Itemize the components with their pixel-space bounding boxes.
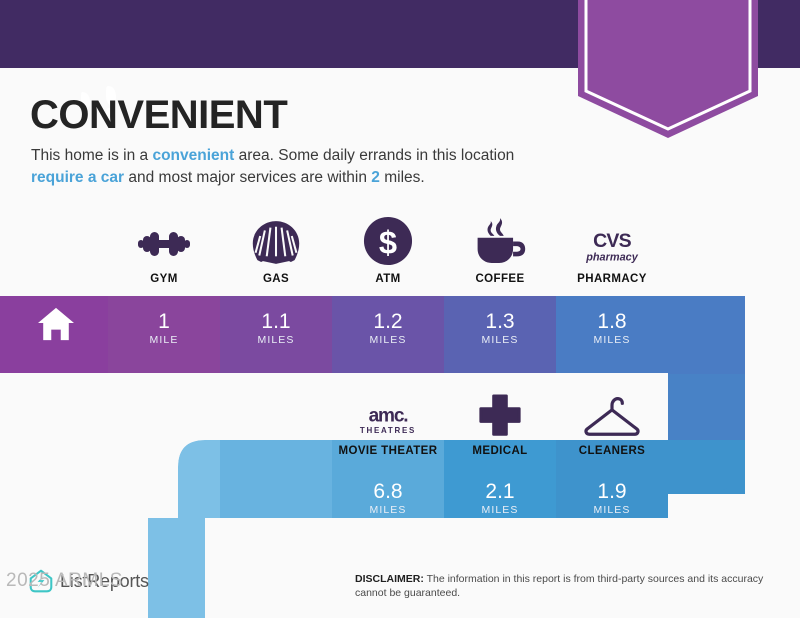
coffee-cup-icon (444, 212, 556, 266)
amenity-atm[interactable]: $ ATM (332, 212, 444, 285)
amenity-label: GAS (220, 273, 332, 285)
disclaimer: DISCLAIMER: The information in this repo… (355, 572, 785, 600)
amenity-label: MOVIE THEATER (332, 445, 444, 457)
cvs-pharmacy-logo-icon: CVS pharmacy (556, 212, 668, 266)
amenity-label: CLEANERS (556, 445, 668, 457)
amenity-pharmacy[interactable]: CVS pharmacy PHARMACY (556, 212, 668, 285)
amenity-gym[interactable]: GYM (108, 212, 220, 285)
dumbbell-icon (108, 212, 220, 266)
medical-cross-icon (444, 384, 556, 438)
row1-band (0, 296, 668, 374)
amenity-cleaners[interactable]: CLEANERS (556, 384, 668, 457)
disclaimer-label: DISCLAIMER: (355, 573, 424, 585)
amenity-label: ATM (332, 273, 444, 285)
amenity-label: GYM (108, 273, 220, 285)
svg-text:$: $ (379, 224, 397, 261)
dollar-circle-icon: $ (332, 212, 444, 266)
clothes-hanger-icon (556, 384, 668, 438)
amenity-label: COFFEE (444, 273, 556, 285)
watermark: 2025 ARMLS (6, 570, 123, 592)
amenity-movie-theater[interactable]: amc. THEATRES MOVIE THEATER (332, 384, 444, 457)
area-report-page: 5501 E CALLE DEL SOL, CAVE CREEK, AZ, 85… (0, 0, 800, 618)
amenity-gas[interactable]: GAS (220, 212, 332, 285)
amenity-label: MEDICAL (444, 445, 556, 457)
svg-text:CVS: CVS (593, 230, 632, 252)
home-icon-bar (36, 306, 76, 342)
area-report-badge (572, 0, 764, 144)
svg-text:THEATRES: THEATRES (360, 426, 416, 435)
svg-text:pharmacy: pharmacy (585, 251, 638, 263)
amenity-medical[interactable]: MEDICAL (444, 384, 556, 457)
amenity-coffee[interactable]: COFFEE (444, 212, 556, 285)
svg-text:amc.: amc. (369, 405, 408, 426)
shell-logo-icon (220, 212, 332, 266)
amenity-label: PHARMACY (556, 273, 668, 285)
amc-theatres-logo-icon: amc. THEATRES (332, 384, 444, 438)
